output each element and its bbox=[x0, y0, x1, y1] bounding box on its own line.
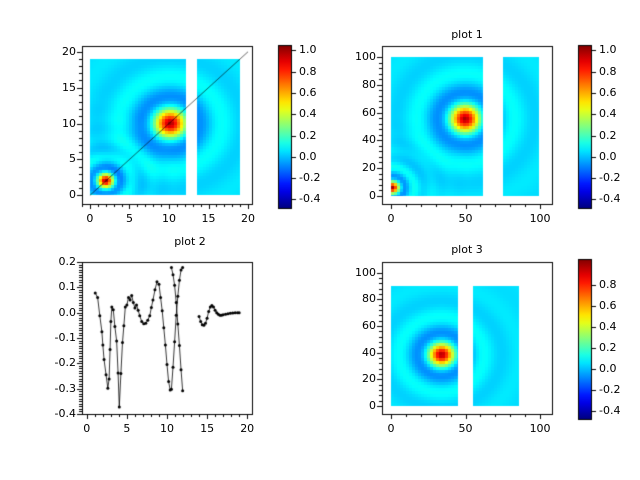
colorbar-tick-label: 0.8 bbox=[599, 279, 617, 290]
panel-plot-bottom-right: -0.4-0.20.00.20.40.60.802040608010005010… bbox=[0, 0, 640, 480]
colorbar-tick-label: -0.2 bbox=[599, 384, 620, 395]
y-tick-label: 60 bbox=[326, 320, 376, 331]
x-tick-label: 0 bbox=[366, 423, 416, 434]
x-tick-label: 50 bbox=[441, 423, 491, 434]
colorbar-tick-label: 0.4 bbox=[599, 321, 617, 332]
y-tick-label: 20 bbox=[326, 373, 376, 384]
x-tick-label: 100 bbox=[515, 423, 565, 434]
plot-area-plot-bottom-right bbox=[0, 0, 640, 480]
y-tick-label: 100 bbox=[326, 267, 376, 278]
figure-canvas: -0.4-0.20.00.20.40.60.81.005101520051015… bbox=[0, 0, 640, 480]
panel-title-plot-bottom-right: plot 3 bbox=[382, 244, 552, 256]
colorbar-tick-label: 0.2 bbox=[599, 342, 617, 353]
colorbar-tick-label: 0.6 bbox=[599, 300, 617, 311]
y-tick-label: 0 bbox=[326, 400, 376, 411]
y-tick-label: 40 bbox=[326, 347, 376, 358]
colorbar-tick-label: 0.0 bbox=[599, 363, 617, 374]
y-tick-label: 80 bbox=[326, 293, 376, 304]
colorbar-tick-label: -0.4 bbox=[599, 405, 620, 416]
